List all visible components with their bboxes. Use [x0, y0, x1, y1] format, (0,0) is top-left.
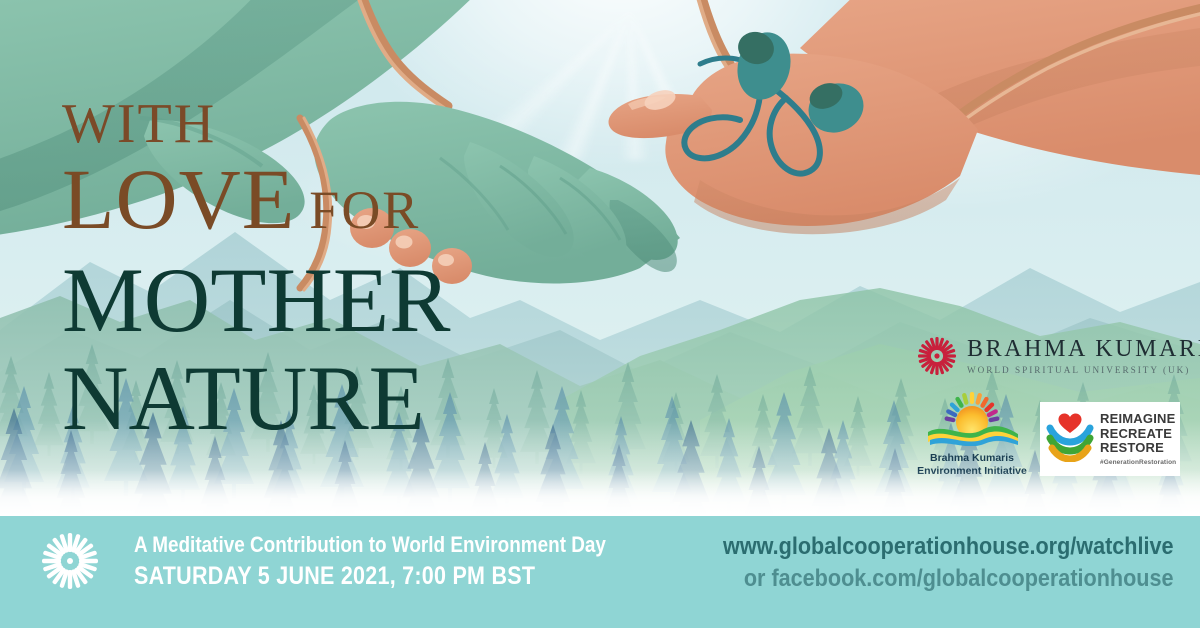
reimagine-line1: REIMAGINE	[1100, 412, 1176, 427]
bottom-mist-fade	[0, 470, 1200, 516]
page-title: WITH LOVEFOR MOTHER NATURE	[62, 96, 622, 444]
headline-word-for: FOR	[309, 180, 420, 240]
red-starburst-icon	[916, 335, 958, 377]
rainbow-sun-wave-icon	[920, 388, 1024, 451]
reimagine-recreate-restore-logo: REIMAGINE RECREATE RESTORE #GenerationRe…	[1040, 402, 1180, 476]
headline-line-love-for: LOVEFOR	[62, 156, 622, 242]
reimagine-wordmark: REIMAGINE RECREATE RESTORE #GenerationRe…	[1100, 412, 1176, 466]
reimagine-line3: RESTORE	[1100, 441, 1176, 456]
event-details: A Meditative Contribution to World Envir…	[134, 531, 694, 592]
reimagine-line2: RECREATE	[1100, 427, 1176, 442]
environment-initiative-line1: Brahma Kumaris	[917, 452, 1027, 465]
heart-chevron-icon	[1046, 412, 1094, 467]
facebook-watch-url[interactable]: or facebook.com/globalcooperationhouse	[724, 564, 1174, 594]
primary-watch-url[interactable]: www.globalcooperationhouse.org/watchlive	[724, 532, 1174, 562]
brahma-kumaris-wordmark: BRAHMA KUMARIS WORLD SPIRITUAL UNIVERSIT…	[967, 337, 1200, 374]
event-datetime: SATURDAY 5 JUNE 2021, 7:00 PM BST	[134, 561, 616, 592]
headline-line-mother: MOTHER	[62, 254, 622, 346]
watch-links: www.globalcooperationhouse.org/watchlive…	[673, 532, 1174, 594]
headline-line-nature: NATURE	[62, 352, 622, 444]
headline-line-with: WITH	[62, 96, 622, 152]
environment-initiative-logo: Brahma Kumaris Environment Initiative	[916, 388, 1028, 480]
poster-canvas: WITH LOVEFOR MOTHER NATURE	[0, 0, 1200, 628]
brahma-kumaris-name: BRAHMA KUMARIS	[967, 337, 1200, 362]
headline-word-love: LOVE	[62, 151, 295, 247]
event-tagline: A Meditative Contribution to World Envir…	[134, 531, 616, 558]
white-starburst-icon	[39, 530, 101, 592]
brahma-kumaris-logo: BRAHMA KUMARIS WORLD SPIRITUAL UNIVERSIT…	[916, 332, 1178, 380]
brahma-kumaris-subtitle: WORLD SPIRITUAL UNIVERSITY (UK)	[967, 365, 1200, 375]
reimagine-hashtag: #GenerationRestoration	[1100, 459, 1176, 466]
